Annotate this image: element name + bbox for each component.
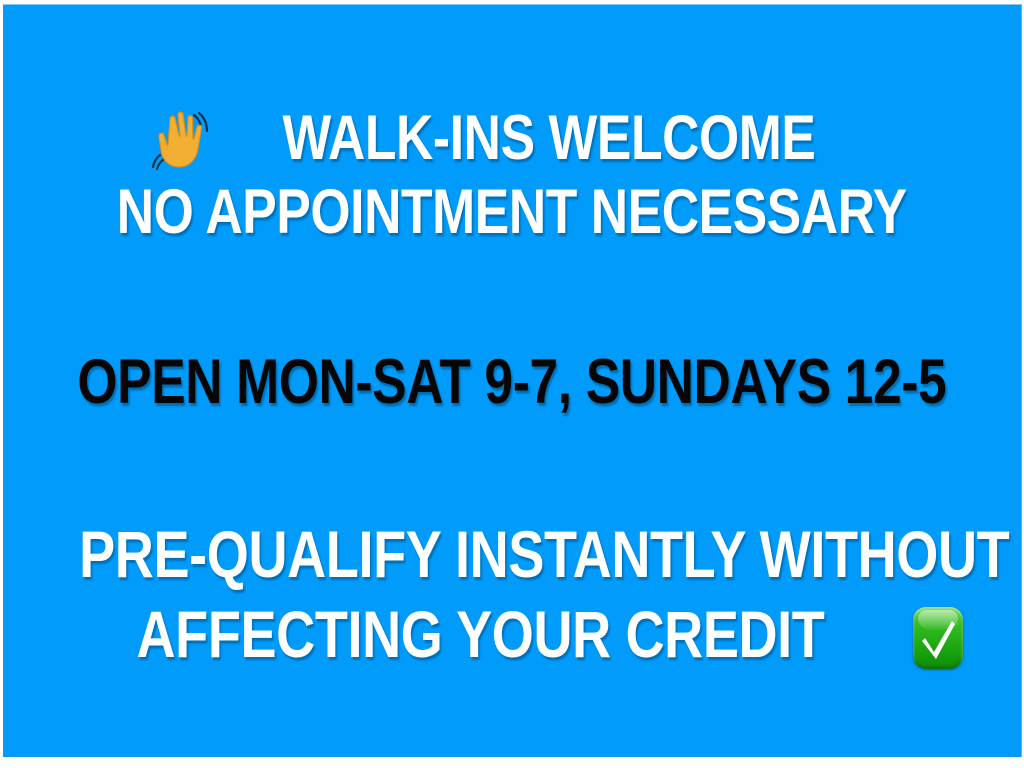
- sign-line-no-appointment-necessary: NO APPOINTMENT NECESSARY: [3, 175, 1021, 249]
- sign-line-hours: OPEN MON-SAT 9-7, SUNDAYS 12-5: [3, 345, 1021, 419]
- sign-line-3-text: OPEN MON-SAT 9-7, SUNDAYS 12-5: [78, 349, 947, 416]
- sign-line-4-text: PRE-QUALIFY INSTANTLY WITHOUT: [79, 520, 1009, 590]
- sign-line-5-text: AFFECTING YOUR CREDIT: [136, 600, 824, 670]
- sign-line-2-text: NO APPOINTMENT NECESSARY: [117, 179, 907, 246]
- sign-line-affecting-credit: AFFECTING YOUR CREDIT: [3, 595, 1021, 675]
- waving-hand-icon: [150, 109, 208, 171]
- sign-line-1-text: WALK-INS WELCOME: [283, 105, 816, 172]
- check-mark-button-icon-trailing: [913, 607, 963, 669]
- sign-line-walk-ins-welcome: WALK-INS WELCOME: [3, 101, 1021, 175]
- sign-background-panel: WALK-INS WELCOME NO APPOINTMENT NECESSAR…: [3, 4, 1022, 757]
- sign-line-pre-qualify: PRE-QUALIFY INSTANTLY WITHOUT: [3, 515, 1021, 595]
- promotional-sign: WALK-INS WELCOME NO APPOINTMENT NECESSAR…: [0, 0, 1024, 768]
- sign-text-block: WALK-INS WELCOME NO APPOINTMENT NECESSAR…: [3, 101, 1021, 675]
